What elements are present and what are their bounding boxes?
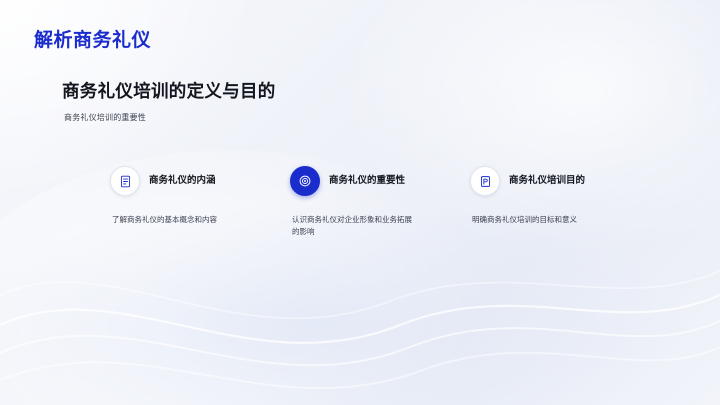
card-list: 商务礼仪的内涵 了解商务礼仪的基本概念和内容 商务礼仪的重要性 认识商务礼仪对企… (110, 165, 630, 237)
card-header: 商务礼仪的内涵 (110, 165, 270, 197)
card-header: 商务礼仪培训目的 (470, 165, 630, 197)
document-lines-icon (110, 166, 140, 196)
list-item[interactable]: 商务礼仪的内涵 了解商务礼仪的基本概念和内容 (110, 165, 270, 226)
page-title: 解析商务礼仪 (34, 25, 151, 52)
card-body: 认识商务礼仪对企业形象和业务拓展的影响 (292, 214, 412, 237)
list-item[interactable]: 商务礼仪培训目的 明确商务礼仪培训的目标和意义 (470, 165, 630, 226)
section-subheading: 商务礼仪培训的重要性 (64, 112, 146, 123)
card-body: 明确商务礼仪培训的目标和意义 (472, 214, 592, 226)
card-title: 商务礼仪培训目的 (509, 175, 585, 186)
card-body: 了解商务礼仪的基本概念和内容 (112, 214, 232, 226)
presentation-board-icon (470, 166, 500, 196)
slide-canvas: 解析商务礼仪 商务礼仪培训的定义与目的 商务礼仪培训的重要性 商务礼仪的内涵 了… (0, 0, 720, 405)
card-title: 商务礼仪的重要性 (329, 175, 405, 186)
card-header: 商务礼仪的重要性 (290, 165, 450, 197)
target-circle-icon (290, 166, 320, 196)
list-item[interactable]: 商务礼仪的重要性 认识商务礼仪对企业形象和业务拓展的影响 (290, 165, 450, 237)
section-heading: 商务礼仪培训的定义与目的 (62, 78, 276, 103)
card-title: 商务礼仪的内涵 (149, 175, 216, 186)
